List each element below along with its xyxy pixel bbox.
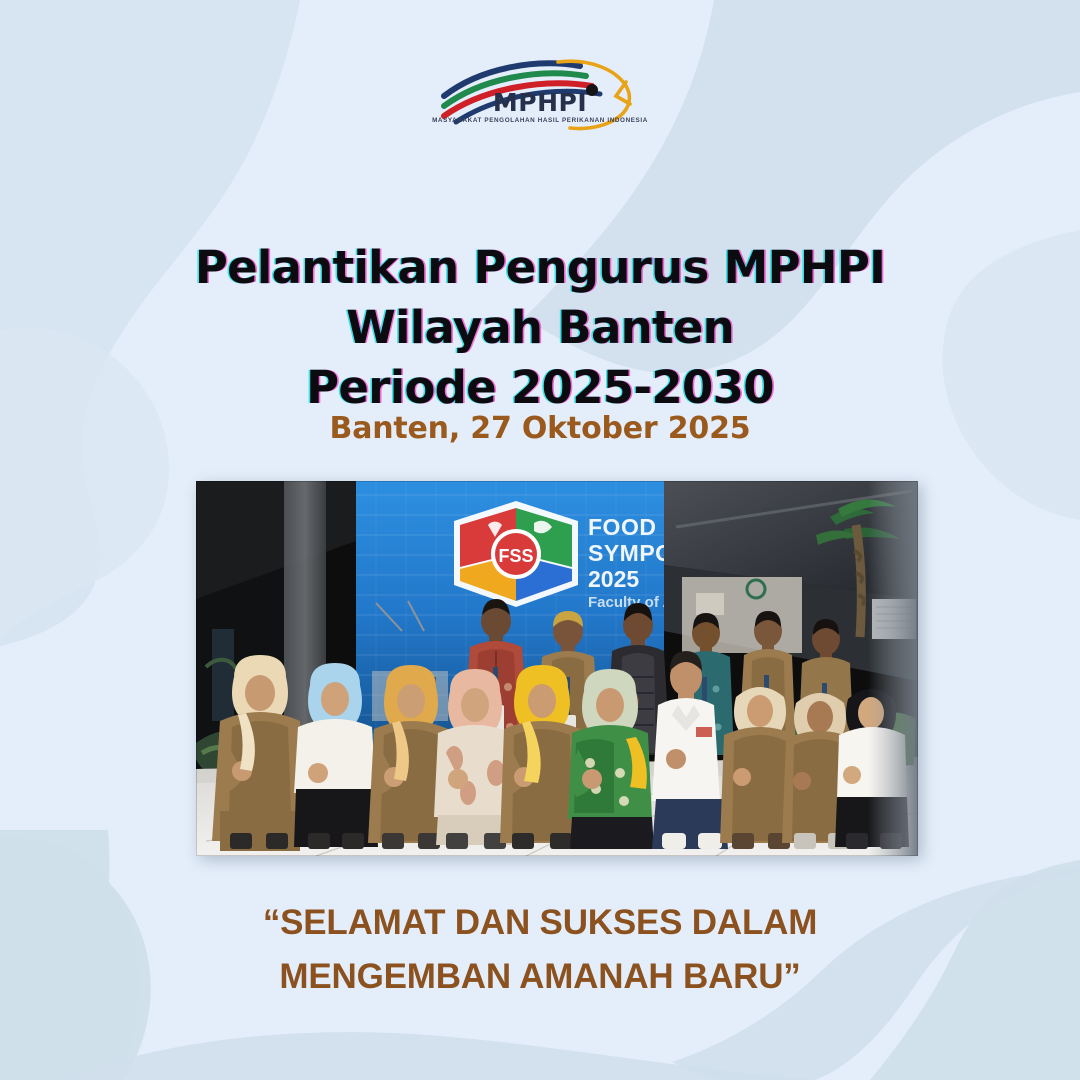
group-photo: FSS FOOD SECUR SYMPOSIUM 2025 Faculty of… [196, 481, 918, 856]
page-title: Pelantikan Pengurus MPHPI Wilayah Banten… [0, 238, 1080, 418]
title-line-3: Periode 2025-2030 [0, 358, 1080, 418]
poster-canvas: MPHPI MASYARAKAT PENGOLAHAN HASIL PERIKA… [0, 0, 1080, 1080]
title-line-2: Wilayah Banten [0, 298, 1080, 358]
event-date: Banten, 27 Oktober 2025 [0, 411, 1080, 446]
mphpi-fish-logo-icon: MPHPI MASYARAKAT PENGOLAHAN HASIL PERIKA… [440, 52, 640, 138]
svg-text:FSS: FSS [498, 546, 533, 566]
quote-line-2: MENGEMBAN AMANAH BARU” [0, 950, 1080, 1004]
closing-quote: “SELAMAT DAN SUKSES DALAM MENGEMBAN AMAN… [0, 896, 1080, 1004]
symposium-emblem: FSS [454, 501, 578, 607]
quote-line-1: “SELAMAT DAN SUKSES DALAM [0, 896, 1080, 950]
brand-logo: MPHPI MASYARAKAT PENGOLAHAN HASIL PERIKA… [0, 52, 1080, 138]
title-line-1: Pelantikan Pengurus MPHPI [0, 238, 1080, 298]
fish-eye-icon [586, 84, 598, 96]
svg-text:2025: 2025 [588, 566, 639, 592]
